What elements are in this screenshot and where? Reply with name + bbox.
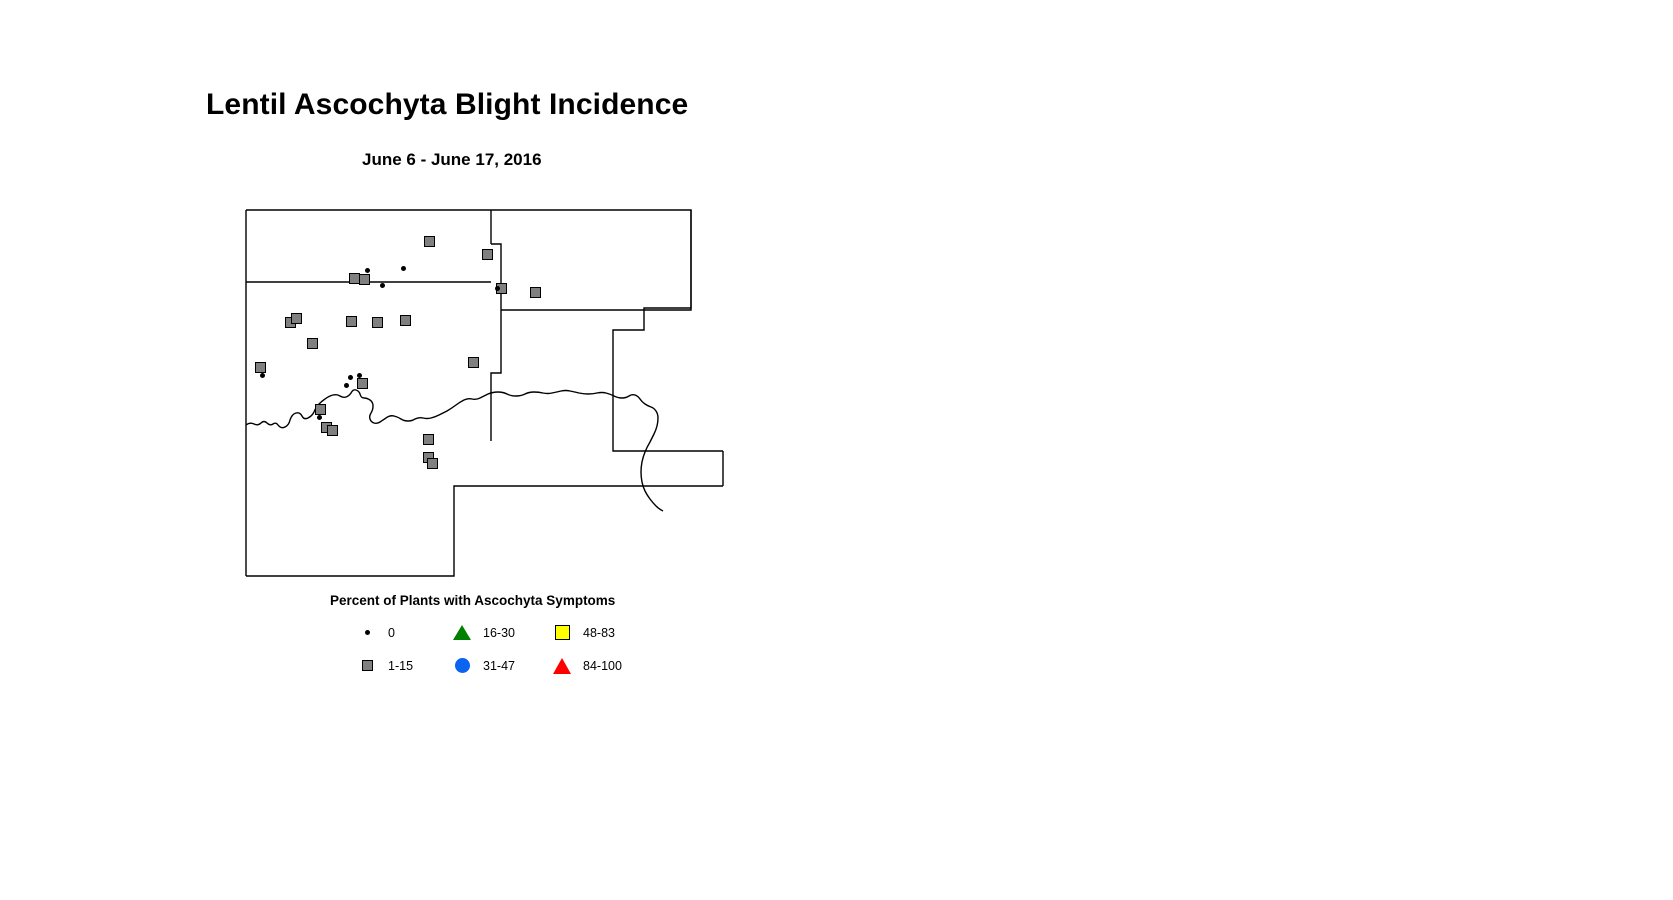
legend-title: Percent of Plants with Ascochyta Symptom… bbox=[330, 593, 615, 608]
legend-row-1: 0 16-30 48-83 bbox=[246, 616, 716, 649]
region-south-boundary bbox=[246, 486, 723, 576]
map-marker-1-15 bbox=[307, 338, 318, 349]
map-marker-0 bbox=[260, 373, 265, 378]
map-marker-1-15 bbox=[423, 434, 434, 445]
small-black-dot-icon bbox=[356, 630, 378, 635]
map-marker-1-15 bbox=[424, 236, 435, 247]
map-marker-1-15 bbox=[255, 362, 266, 373]
map-marker-0 bbox=[365, 268, 370, 273]
legend-entry-31-47: 31-47 bbox=[451, 649, 515, 682]
map-marker-1-15 bbox=[291, 313, 302, 324]
legend-entry-48-83: 48-83 bbox=[551, 616, 615, 649]
legend-label-84-100: 84-100 bbox=[583, 659, 622, 673]
map-canvas bbox=[236, 198, 736, 590]
green-triangle-icon bbox=[451, 625, 473, 640]
county-line-vertical-mid bbox=[491, 244, 501, 282]
page-subtitle: June 6 - June 17, 2016 bbox=[362, 150, 542, 170]
legend-entry-0: 0 bbox=[356, 616, 395, 649]
map-figure: Lentil Ascochyta Blight Incidence June 6… bbox=[0, 0, 1673, 900]
map-marker-1-15 bbox=[346, 316, 357, 327]
legend-label-16-30: 16-30 bbox=[483, 626, 515, 640]
map-marker-1-15 bbox=[482, 249, 493, 260]
map-marker-1-15 bbox=[372, 317, 383, 328]
county-boundaries bbox=[246, 210, 723, 576]
legend-entry-16-30: 16-30 bbox=[451, 616, 515, 649]
red-triangle-icon bbox=[551, 658, 573, 674]
yellow-square-icon bbox=[551, 625, 573, 640]
legend-row-2: 1-15 31-47 84-100 bbox=[246, 649, 716, 682]
legend-entry-1-15: 1-15 bbox=[356, 649, 413, 682]
map-marker-1-15 bbox=[530, 287, 541, 298]
legend-label-1-15: 1-15 bbox=[388, 659, 413, 673]
gray-square-icon bbox=[356, 660, 378, 671]
map-marker-1-15 bbox=[468, 357, 479, 368]
map-marker-1-15 bbox=[359, 274, 370, 285]
county-line-vertical-lower bbox=[491, 282, 501, 441]
map-marker-0 bbox=[495, 286, 500, 291]
map-marker-0 bbox=[344, 383, 349, 388]
map-marker-1-15 bbox=[327, 425, 338, 436]
map-legend: Percent of Plants with Ascochyta Symptom… bbox=[246, 588, 716, 683]
map-marker-0 bbox=[348, 375, 353, 380]
map-marker-1-15 bbox=[427, 458, 438, 469]
legend-label-31-47: 31-47 bbox=[483, 659, 515, 673]
legend-entry-84-100: 84-100 bbox=[551, 649, 622, 682]
page-title: Lentil Ascochyta Blight Incidence bbox=[206, 88, 688, 122]
legend-label-48-83: 48-83 bbox=[583, 626, 615, 640]
map-marker-0 bbox=[401, 266, 406, 271]
blue-circle-icon bbox=[451, 658, 473, 673]
legend-label-0: 0 bbox=[388, 626, 395, 640]
map-marker-0 bbox=[380, 283, 385, 288]
map-marker-1-15 bbox=[315, 404, 326, 415]
map-marker-1-15 bbox=[400, 315, 411, 326]
map-marker-0 bbox=[317, 415, 322, 420]
map-marker-1-15 bbox=[357, 378, 368, 389]
